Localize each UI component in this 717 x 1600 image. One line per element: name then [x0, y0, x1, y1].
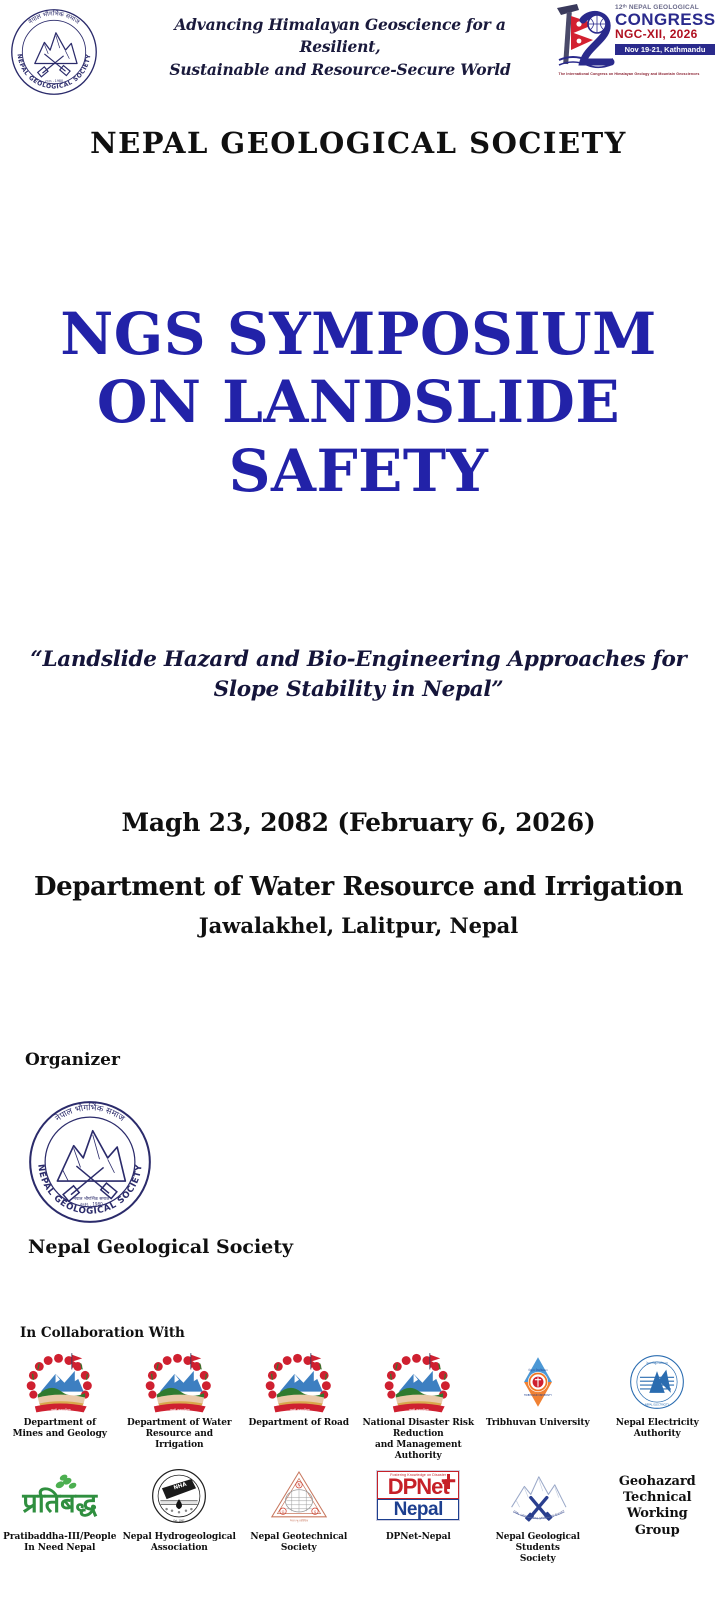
quote-line-1: “Landslide Hazard and Bio-Engineering Ap… — [14, 645, 703, 675]
collaborator-item: जननी जन्मभूमिश्च Department of Mines and… — [0, 1348, 120, 1462]
collaborator-item: त्रिभुवन विश्वविद्यालय TRIBHUVAN UNIVERS… — [478, 1348, 598, 1462]
svg-text:नेपाल भौगर्भिक समाज: नेपाल भौगर्भिक समाज — [53, 1102, 127, 1123]
svg-text:S: S — [314, 1510, 317, 1514]
collaborator-caption: Department of Road — [249, 1418, 349, 1429]
collaborator-item: NHA Est. 1997 Nepal Hydrogeological — [120, 1462, 240, 1565]
caption-line-1: Tribhuvan University — [486, 1418, 590, 1429]
collaborator-item: जननी जन्मभूमिश्च Department of Water Res… — [120, 1348, 240, 1462]
nepal-government-emblem-icon: जननी जन्मभूमिश्च — [381, 1348, 455, 1416]
nepal-government-emblem-icon: जननी जन्मभूमिश्च — [142, 1348, 216, 1416]
collaborators-grid: जननी जन्मभूमिश्च Department of Mines and… — [0, 1348, 717, 1565]
caption-line-1: Geohazard — [619, 1474, 696, 1490]
collaborator-caption: DPNet-Nepal — [386, 1532, 451, 1543]
collaborator-caption: Pratibaddha-III/People In Need Nepal — [3, 1532, 116, 1554]
svg-text:जननी जन्मभूमिश्च: जननी जन्मभूमिश्च — [290, 1408, 310, 1412]
event-date: Magh 23, 2082 (February 6, 2026) — [0, 808, 717, 837]
collaborator-item: नेपाल विद्युत प्राधिकरण NEPAL ELECTRICIT… — [598, 1348, 717, 1462]
svg-text:त्रिभुवन विश्वविद्यालय: त्रिभुवन विश्वविद्यालय — [528, 1368, 548, 1372]
ngc-edition-label: NGC-XII, 2026 — [615, 28, 715, 42]
nepal-government-emblem-icon: जननी जन्मभूमिश्च — [23, 1348, 97, 1416]
caption-line-1: Pratibaddha-III/People — [3, 1532, 116, 1543]
caption-line-2: Society — [480, 1554, 596, 1565]
collaborator-caption: Nepal Geological Students Society — [480, 1532, 596, 1565]
page-title-line-3: SAFETY — [0, 437, 717, 505]
caption-line-1: National Disaster Risk Reduction — [361, 1418, 477, 1440]
caption-line-1: Nepal Hydrogeological — [123, 1532, 236, 1543]
caption-line-1: Nepal Geological Students — [480, 1532, 596, 1554]
caption-line-1: DPNet-Nepal — [386, 1532, 451, 1543]
svg-text:२०३६ . 1980: २०३६ . 1980 — [45, 79, 63, 83]
collaborator-item: प्रतिबद्ध Pratibaddha-III/People In Need… — [0, 1462, 120, 1565]
page-title: NGS SYMPOSIUM ON LANDSLIDE SAFETY — [0, 300, 717, 505]
pratibaddha-wordmark: प्रतिबद्ध — [22, 1490, 97, 1517]
caption-line-1: Department of Water — [122, 1418, 238, 1429]
collaborator-caption: Nepal Geotechnical Society — [250, 1532, 347, 1554]
nepal-government-emblem-icon: जननी जन्मभूमिश्च — [262, 1348, 336, 1416]
header-tagline: Advancing Himalayan Geoscience for a Res… — [150, 14, 530, 81]
svg-text:TRIBHUVAN UNIVERSITY: TRIBHUVAN UNIVERSITY — [524, 1394, 553, 1397]
svg-text:Est. 1997: Est. 1997 — [174, 1519, 185, 1522]
collaborator-item: Geohazard Technical Working Group — [598, 1462, 717, 1565]
society-name-heading: NEPAL GEOLOGICAL SOCIETY — [0, 126, 717, 160]
collaborator-item: जननी जन्मभूमिश्च Department of Road — [239, 1348, 359, 1462]
collaborator-caption: Department of Water Resource and Irrigat… — [122, 1418, 238, 1451]
caption-line-1: Department of Road — [249, 1418, 349, 1429]
caption-line-1: Department of — [13, 1418, 107, 1429]
caption-line-3: Working — [619, 1506, 696, 1522]
collaborator-item: N G S नेपाल भू-प्राविधिक Nepal Geotechni… — [239, 1462, 359, 1565]
collaborator-caption: Department of Mines and Geology — [13, 1418, 107, 1440]
header-tagline-line-2: Sustainable and Resource-Secure World — [150, 59, 530, 81]
poster-header: नेपाल भौगर्भिक समाज NEPAL GEOLOGICAL SOC… — [0, 0, 717, 100]
nepal-hydrogeological-association-icon: NHA Est. 1997 — [148, 1462, 210, 1530]
ngc-dates-badge: Nov 19-21, Kathmandu — [615, 44, 715, 55]
collaborator-item: Fostering Knowledge on Disaster DPNet Ne… — [359, 1462, 479, 1565]
nepal-electricity-authority-icon: नेपाल विद्युत प्राधिकरण NEPAL ELECTRICIT… — [626, 1348, 688, 1416]
svg-text:जननी जन्मभूमिश्च: जननी जन्मभूमिश्च — [170, 1408, 190, 1412]
svg-text:नेपाल भू-प्राविधिक: नेपाल भू-प्राविधिक — [289, 1518, 309, 1522]
svg-text:नेपाल भौगर्भिक समाज: नेपाल भौगर्भिक समाज — [27, 9, 81, 26]
caption-line-2: Mines and Geology — [13, 1429, 107, 1440]
svg-text:२०३६ . 1980: २०३६ . 1980 — [80, 1202, 103, 1207]
ngs-circular-seal-icon: नेपाल भौगर्भिक समाज NEPAL GEOLOGICAL SOC… — [6, 4, 102, 100]
caption-line-2: Resource and Irrigation — [122, 1429, 238, 1451]
pratibaddha-text-logo-icon: प्रतिबद्ध — [22, 1462, 97, 1530]
geohazard-text-logo-icon: Geohazard Technical Working Group — [619, 1474, 696, 1539]
quote-line-2: Slope Stability in Nepal” — [14, 675, 703, 705]
ngc-congress-logo: 12ᵗʰ NEPAL GEOLOGICAL CONGRESS NGC-XII, … — [543, 2, 715, 80]
caption-line-2: Association — [123, 1543, 236, 1554]
collaborator-caption: Nepal Hydrogeological Association — [123, 1532, 236, 1554]
collaborator-item: NEPAL GEOLOGICAL STUDENTS SOCIETY Nepal … — [478, 1462, 598, 1565]
collaboration-label: In Collaboration With — [20, 1325, 185, 1341]
dpnet-nepal-logo-icon: Fostering Knowledge on Disaster DPNet Ne… — [376, 1462, 460, 1530]
collaborator-caption: Tribhuvan University — [486, 1418, 590, 1429]
ngs-circular-seal-icon: नेपाल भौगर्भिक समाज NEPAL GEOLOGICAL SOC… — [22, 1094, 158, 1230]
collaborators-row: प्रतिबद्ध Pratibaddha-III/People In Need… — [0, 1462, 717, 1565]
nepal-geotechnical-society-icon: N G S नेपाल भू-प्राविधिक — [267, 1462, 331, 1530]
dpnet-nepal-wordmark: Nepal — [378, 1500, 458, 1519]
nepal-geological-students-society-icon: NEPAL GEOLOGICAL STUDENTS SOCIETY — [502, 1462, 574, 1530]
svg-text:N: N — [297, 1482, 300, 1487]
event-venue: Department of Water Resource and Irrigat… — [0, 872, 717, 902]
collaborator-caption: Nepal Electricity Authority — [616, 1418, 699, 1440]
caption-line-2: In Need Nepal — [3, 1543, 116, 1554]
svg-text:NEPAL ELECTRICITY: NEPAL ELECTRICITY — [645, 1402, 670, 1406]
caption-line-1: Nepal Electricity — [616, 1418, 699, 1429]
svg-text:नेपाल विद्युत प्राधिकरण: नेपाल विद्युत प्राधिकरण — [646, 1361, 668, 1365]
page-title-line-2: ON LANDSLIDE — [0, 368, 717, 436]
collaborator-item: जननी जन्मभूमिश्च National Disaster Risk … — [359, 1348, 479, 1462]
ngc-footline: The International Congress on Himalayan … — [543, 72, 715, 76]
organizer-name: Nepal Geological Society — [28, 1236, 293, 1258]
svg-text:जननी जन्मभूमिश्च: जननी जन्मभूमिश्च — [51, 1408, 71, 1412]
caption-line-2: Authority — [616, 1429, 699, 1440]
event-venue-address: Jawalakhel, Lalitpur, Nepal — [0, 913, 717, 938]
organizer-label: Organizer — [25, 1050, 120, 1070]
caption-line-1: Nepal Geotechnical — [250, 1532, 347, 1543]
caption-line-2: and Management Authority — [361, 1440, 477, 1462]
collaborators-row: जननी जन्मभूमिश्च Department of Mines and… — [0, 1348, 717, 1462]
ngc-congress-label: CONGRESS — [615, 11, 715, 28]
caption-line-2: Technical — [619, 1490, 696, 1506]
symposium-theme-quote: “Landslide Hazard and Bio-Engineering Ap… — [0, 645, 717, 705]
caption-line-4: Group — [619, 1523, 696, 1539]
svg-text:जननी जन्मभूमिश्च: जननी जन्मभूमिश्च — [409, 1408, 429, 1412]
header-tagline-line-1: Advancing Himalayan Geoscience for a Res… — [150, 14, 530, 59]
ngc-hammer-flag-logo-icon — [543, 2, 615, 72]
caption-line-2: Society — [250, 1543, 347, 1554]
page-title-line-1: NGS SYMPOSIUM — [0, 300, 717, 368]
svg-text:G: G — [281, 1510, 284, 1514]
collaborator-caption: National Disaster Risk Reduction and Man… — [361, 1418, 477, 1462]
tribhuvan-university-star-icon: त्रिभुवन विश्वविद्यालय TRIBHUVAN UNIVERS… — [507, 1348, 569, 1416]
